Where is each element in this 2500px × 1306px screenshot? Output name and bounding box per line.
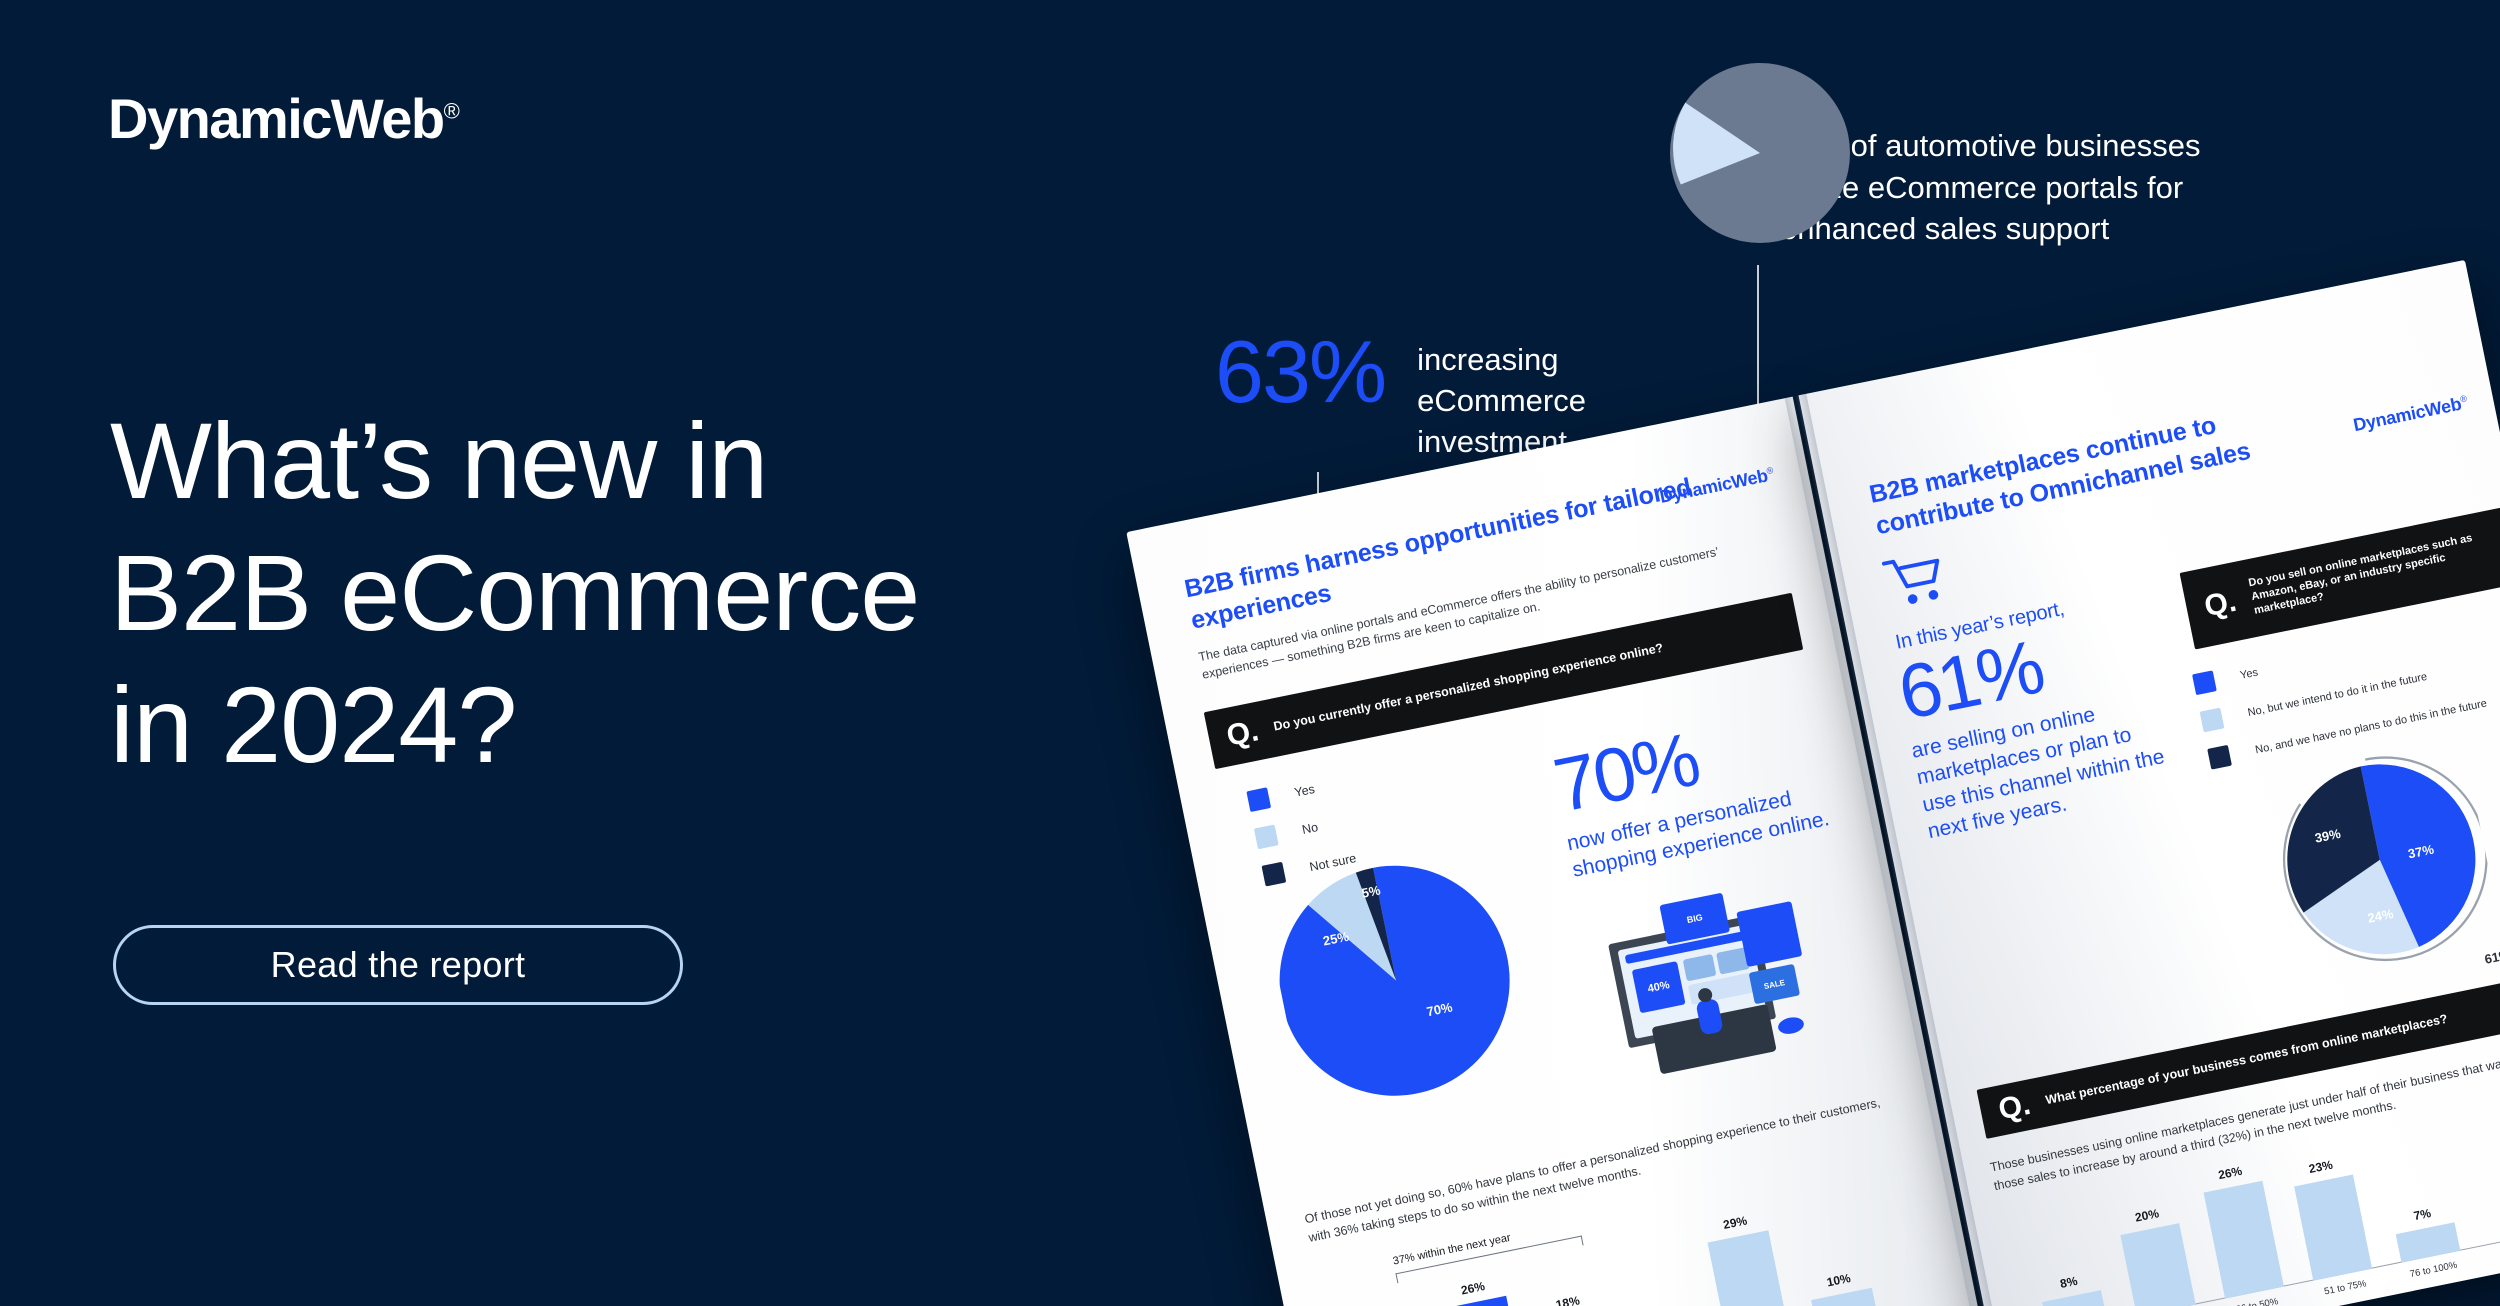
bar-label: 76 to 100%: [2396, 1257, 2471, 1283]
left-page-brand: DynamicWeb®: [1658, 464, 1776, 508]
bar-item: 8% 0 to 10%: [2042, 1290, 2107, 1306]
legend-swatch-yes: [1246, 787, 1271, 812]
illustration-coins: [1777, 1015, 1806, 1036]
bar-value: 7%: [2412, 1206, 2432, 1223]
headline-line-2: B2B eCommerce: [110, 527, 1170, 659]
callout-63-percent: 63%: [1215, 330, 1385, 414]
dynamicweb-logo[interactable]: DynamicWeb®: [108, 86, 460, 151]
bar-item: 20% 11 to 25%: [2120, 1223, 2195, 1306]
left-page-bracket: 37% within the next year: [1392, 1218, 1581, 1268]
bar-value: 26%: [2217, 1164, 2243, 1183]
legend-label-not-sure: Not sure: [1308, 851, 1357, 874]
callout-automotive-77: 77% of automotive businesses utilize eCo…: [1670, 63, 2250, 250]
hero-banner: DynamicWeb® What’s new in B2B eCommerce …: [0, 0, 2500, 1306]
left-page-big-stat: 70% now offer a personalized shopping ex…: [1549, 700, 1836, 885]
bar-value: 23%: [2308, 1158, 2334, 1177]
bar-value: 8%: [2059, 1274, 2079, 1291]
pie-chart-77-icon: [1670, 63, 1850, 243]
left-page-pie-chart: 70% 25% 5%: [1260, 845, 1531, 1116]
headline-line-1: What’s new in: [110, 395, 1170, 527]
registered-mark: ®: [444, 98, 460, 123]
right-page-title: B2B marketplaces continue to contribute …: [1867, 394, 2301, 542]
bar-item: 23% 51 to 75%: [2294, 1175, 2372, 1281]
bar-item: 29% No plans: [1708, 1230, 1792, 1306]
legend-label-yes: Yes: [2239, 666, 2259, 681]
legend-swatch-no: [1254, 825, 1279, 850]
bar-value: 18%: [1555, 1293, 1581, 1306]
bar-value: 29%: [1722, 1213, 1748, 1232]
legend-swatch-intend: [2200, 708, 2225, 733]
bar-item: 26% Yes, in the next 6 to 12 months: [1445, 1296, 1527, 1306]
cta-label: Read the report: [271, 944, 526, 986]
bar-item: 10% I don’t know: [1811, 1288, 1880, 1306]
headline-line-3: in 2024?: [110, 659, 1170, 791]
legend-label-no: No: [1301, 820, 1319, 837]
legend-swatch-no-plans: [2207, 745, 2232, 770]
bar-label: 26 to 50%: [2220, 1293, 2295, 1306]
right-page-pie-chart: 37% 24% 39%: [2256, 736, 2500, 984]
legend-swatch-yes: [2192, 670, 2217, 695]
legend-swatch-not-sure: [1262, 862, 1287, 887]
read-the-report-button[interactable]: Read the report: [113, 925, 683, 1005]
legend-item: No: [1254, 810, 1351, 849]
question-mark-icon-2: Q.: [1996, 1090, 2033, 1126]
ecommerce-illustration: 40% BIG SALE: [1584, 864, 1893, 1115]
illustration-discount-badge: 40%: [1632, 961, 1686, 1013]
legend-label-yes: Yes: [1293, 781, 1316, 799]
shopping-cart-icon: [1881, 548, 1952, 611]
right-page-big-stat: 61% are selling on online marketplaces o…: [1893, 609, 2181, 845]
illustration-video-tile: [1736, 901, 1802, 967]
legend-item: Yes: [1246, 773, 1343, 812]
question-mark-icon: Q.: [1224, 716, 1261, 752]
bar-value: 10%: [1826, 1271, 1852, 1290]
bar-value: 26%: [1460, 1279, 1486, 1298]
bar-item: 26% 26 to 50%: [2204, 1181, 2284, 1299]
question-mark-icon: Q.: [2202, 587, 2239, 623]
pie-annotation-value: 61%: [2483, 947, 2500, 967]
bar-label: 51 to 75%: [2308, 1275, 2383, 1301]
right-page-brand: DynamicWeb®: [2352, 392, 2470, 436]
bar-value: 20%: [2134, 1206, 2160, 1225]
page-title: What’s new in B2B eCommerce in 2024?: [110, 395, 1170, 790]
right-page-question: Do you sell on online marketplaces such …: [2248, 529, 2498, 619]
bar-item: 7% 76 to 100%: [2396, 1222, 2461, 1262]
logo-text: DynamicWeb: [108, 87, 444, 150]
callout-77-text: 77% of automotive businesses utilize eCo…: [1780, 125, 2250, 250]
